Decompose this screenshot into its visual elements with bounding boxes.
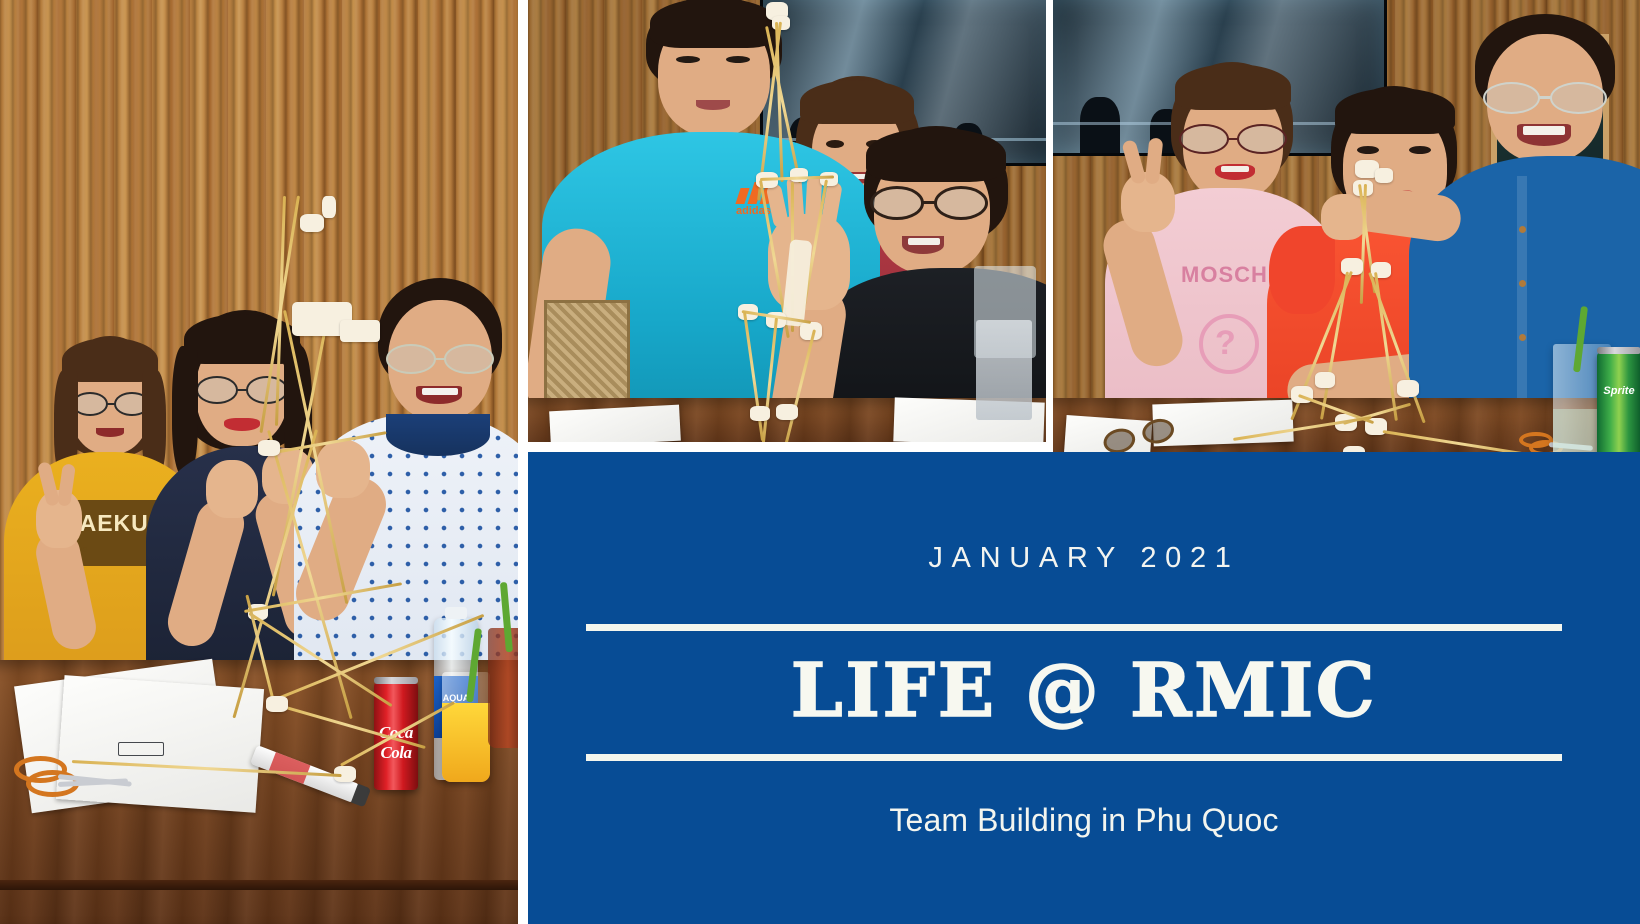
spaghetti-tower [0,0,518,924]
photo-left: NAEKU Native [0,0,518,924]
slide-canvas: NAEKU Native [0,0,1640,924]
panel-kicker: JANUARY 2021 [528,544,1640,573]
panel-subtitle: Team Building in Phu Quoc [528,804,1640,836]
photo-middle: adidas [528,0,1046,442]
divider-bottom [586,754,1562,761]
title-panel: JANUARY 2021 LIFE @ RMIC Team Building i… [528,452,1640,924]
divider-top [586,624,1562,631]
panel-title: LIFE @ RMIC [528,654,1640,728]
spaghetti-tower [528,0,1046,442]
photo-right: MOSCHI ? MILANO [1053,0,1640,462]
spaghetti-tower [1053,0,1640,462]
